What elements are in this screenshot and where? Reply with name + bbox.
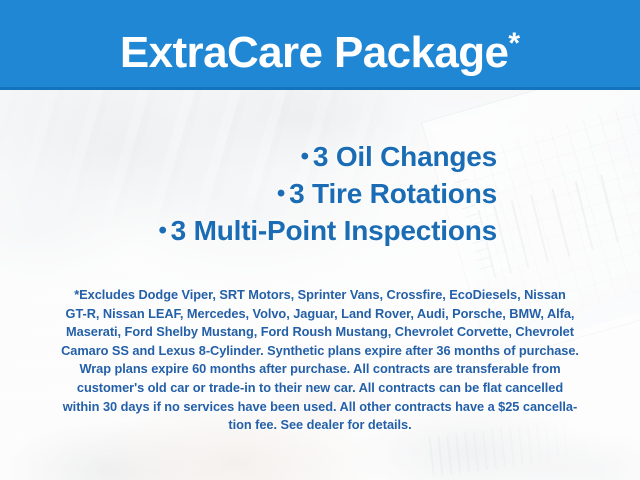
bullet-icon: • <box>301 143 309 170</box>
benefit-label: 3 Multi-Point Inspections <box>171 215 497 246</box>
list-item: •3 Multi-Point Inspections <box>0 212 497 249</box>
page-title-text: ExtraCare Package <box>120 28 509 77</box>
extracare-promo-card: ExtraCare Package* •3 Oil Changes •3 Tir… <box>0 0 640 480</box>
list-item: •3 Oil Changes <box>0 138 497 175</box>
disclaimer-line: Maserati, Ford Shelby Mustang, Ford Rous… <box>24 323 616 342</box>
disclaimer-line: *Excludes Dodge Viper, SRT Motors, Sprin… <box>24 286 616 305</box>
bullet-icon: • <box>158 217 166 244</box>
bullet-icon: • <box>277 180 285 207</box>
page-title-asterisk: * <box>508 27 520 60</box>
disclaimer-line: GT-R, Nissan LEAF, Mercedes, Volvo, Jagu… <box>24 305 616 324</box>
list-item: •3 Tire Rotations <box>0 175 497 212</box>
header-banner: ExtraCare Package* <box>0 0 640 90</box>
page-title: ExtraCare Package* <box>0 16 640 81</box>
benefits-list: •3 Oil Changes •3 Tire Rotations •3 Mult… <box>0 138 497 249</box>
disclaimer-line: Camaro SS and Lexus 8-Cylinder. Syntheti… <box>24 342 616 361</box>
disclaimer-line: Wrap plans expire 60 months after purcha… <box>24 360 616 379</box>
disclaimer-line: tion fee. See dealer for details. <box>24 416 616 435</box>
benefit-label: 3 Oil Changes <box>313 141 497 172</box>
disclaimer-line: within 30 days if no services have been … <box>24 398 616 417</box>
disclaimer-text: *Excludes Dodge Viper, SRT Motors, Sprin… <box>24 286 616 435</box>
disclaimer-line: customer's old car or trade-in to their … <box>24 379 616 398</box>
benefit-label: 3 Tire Rotations <box>289 178 497 209</box>
